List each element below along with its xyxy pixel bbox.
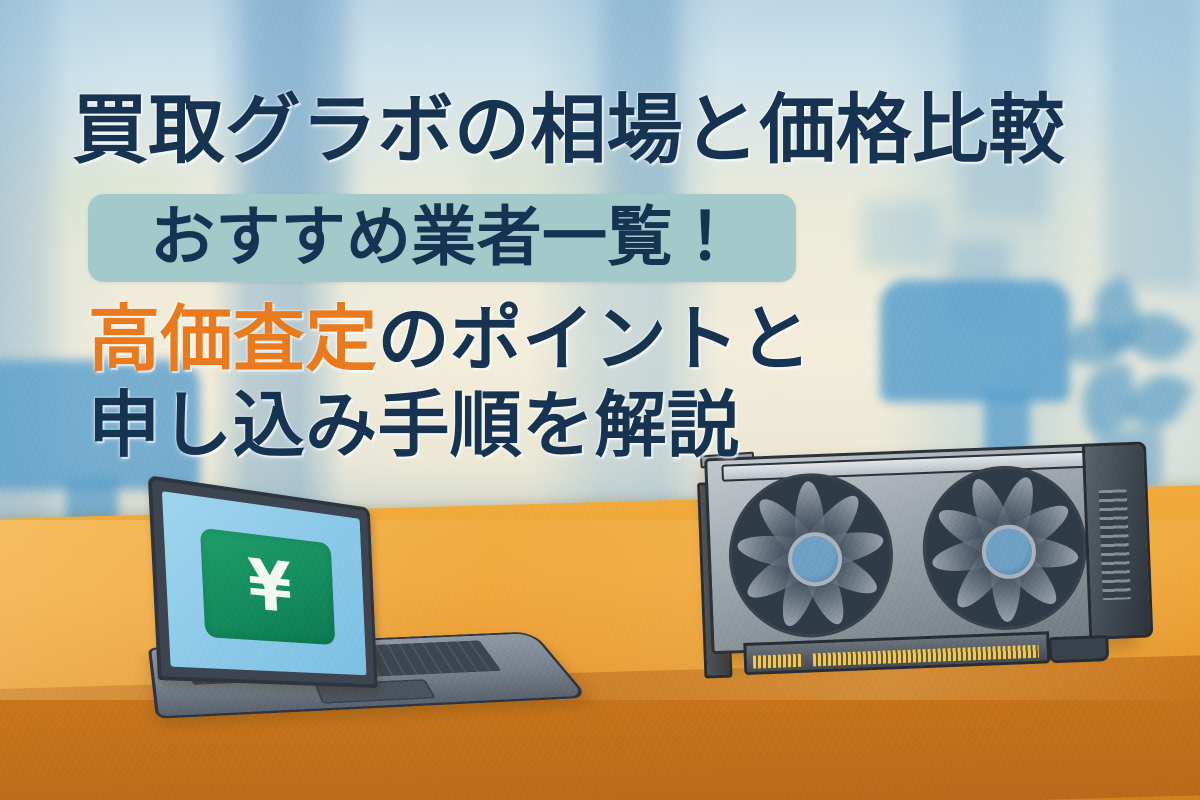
laptop-screen: ¥	[162, 491, 367, 675]
yen-currency-icon: ¥	[246, 549, 293, 623]
headline-line-3-rest: のポイントと	[377, 297, 811, 381]
gpu-support-foot	[1048, 635, 1109, 663]
headline-accent-text: 高価査定	[88, 297, 377, 381]
window-pane-icon	[1104, 0, 1200, 290]
laptop-lid: ¥	[148, 475, 378, 688]
gpu-vent-grille	[1099, 489, 1131, 600]
laptop-illustration: ¥	[140, 470, 560, 770]
gpu-end-cap	[1082, 441, 1153, 639]
yen-price-card: ¥	[200, 527, 335, 645]
headline-line-3: 高価査定のポイントと	[88, 303, 812, 375]
wall-poster-icon	[862, 200, 940, 268]
pcie-contact-pins	[813, 645, 1039, 667]
gpu-fan-left	[726, 470, 896, 640]
pcie-contact-pins	[753, 654, 803, 669]
gpu-shroud	[704, 442, 1137, 654]
chair-back-icon	[880, 280, 1070, 402]
article-thumbnail-banner: ¥	[0, 0, 1200, 800]
gpu-fan-right	[920, 463, 1090, 633]
headline-line-1: 買取グラボの相場と価格比較	[72, 92, 1065, 168]
headline-line-2: おすすめ業者一覧！	[150, 205, 738, 270]
graphics-card-illustration	[695, 421, 1154, 688]
headline-line-4: 申し込み手順を解説	[88, 389, 739, 461]
gpu-top-rail	[721, 450, 1111, 482]
